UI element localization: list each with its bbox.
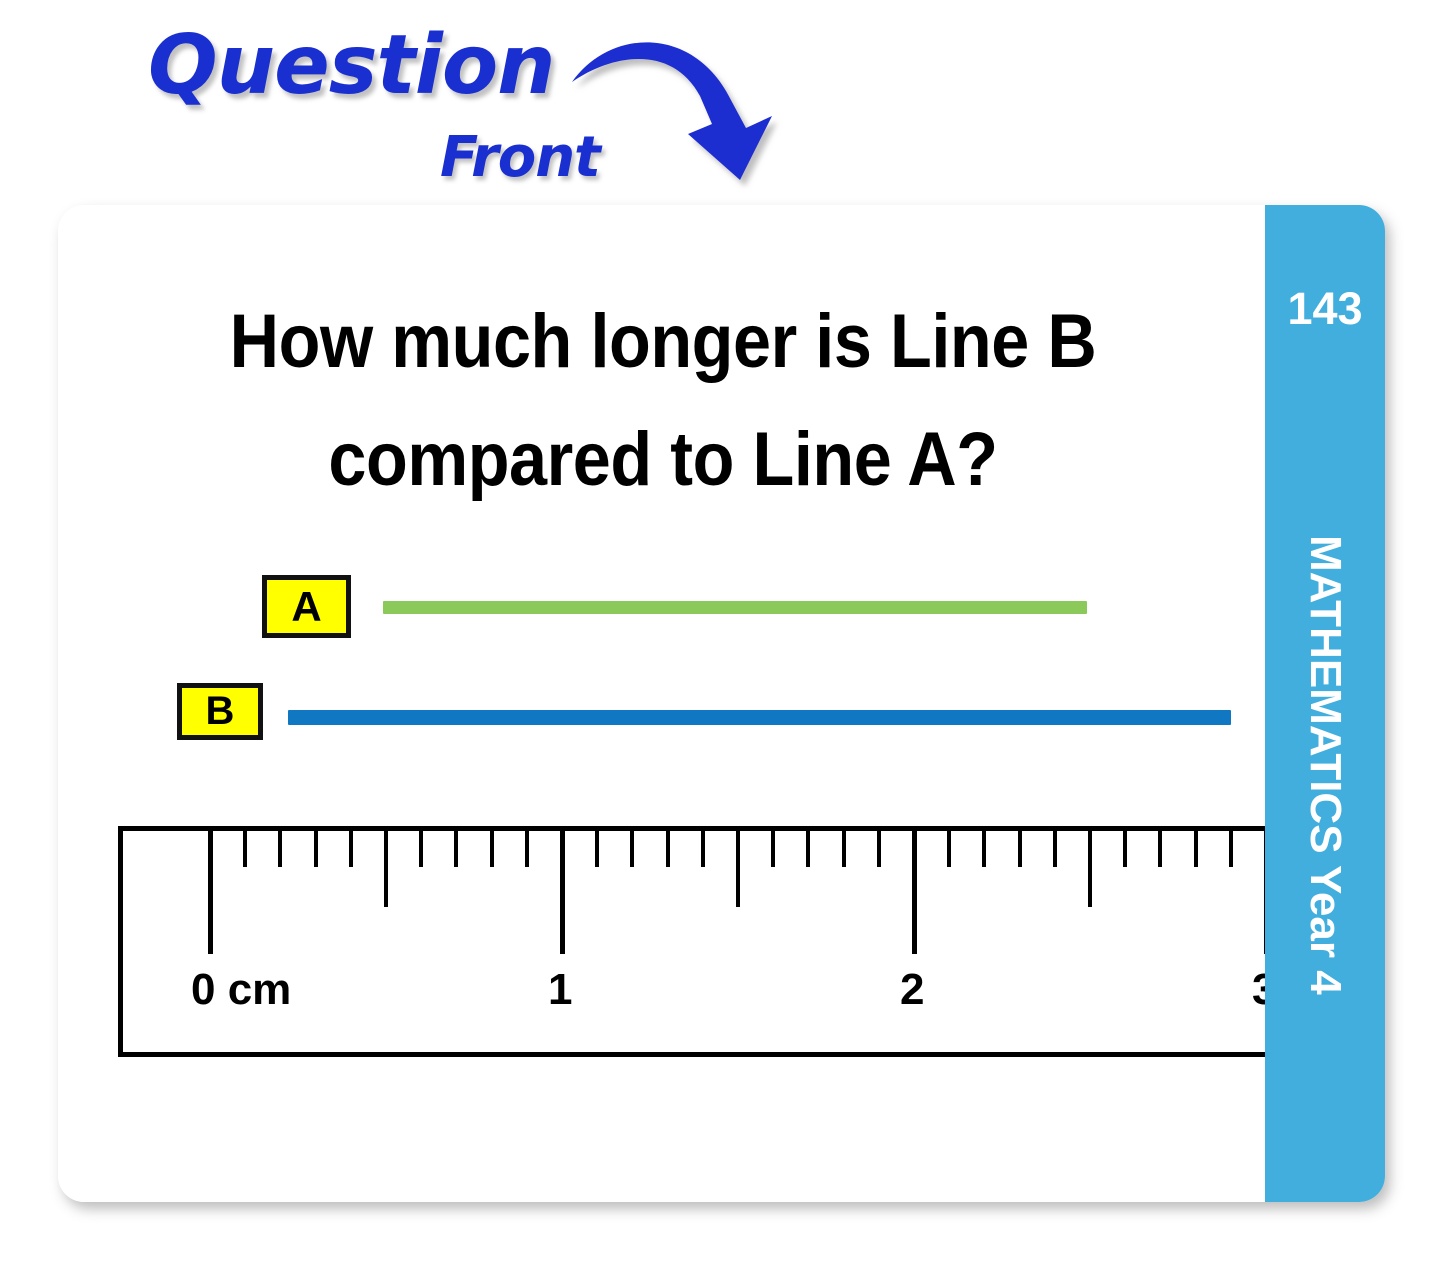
ruler-tick-minor <box>771 829 775 867</box>
ruler-tick-minor <box>666 829 670 867</box>
flashcard: How much longer is Line B compared to Li… <box>58 205 1385 1202</box>
question-word-label: Question <box>148 18 555 113</box>
ruler-tick-minor <box>947 829 951 867</box>
ruler-tick-minor <box>419 829 423 867</box>
ruler-tick-minor <box>525 829 529 867</box>
line-b-label: B <box>177 683 263 740</box>
ruler-tick-minor <box>982 829 986 867</box>
ruler-number-2: 2 <box>900 965 924 1015</box>
header-annotation: Question Front <box>0 0 800 205</box>
ruler-bottom-edge <box>118 1052 1320 1057</box>
line-b-label-text: B <box>206 689 235 734</box>
ruler-tick-major <box>208 829 213 954</box>
ruler-tick-minor <box>454 829 458 867</box>
ruler-tick-minor <box>1158 829 1162 867</box>
ruler-tick-major <box>560 829 565 954</box>
ruler-tick-minor <box>701 829 705 867</box>
line-a-label: A <box>262 575 351 638</box>
card-number-badge: 143 <box>1265 283 1385 335</box>
question-line-2: compared to Line A? <box>155 401 1172 519</box>
question-line-1: How much longer is Line B <box>155 283 1172 401</box>
ruler-tick-minor <box>595 829 599 867</box>
line-b-bar <box>288 710 1231 725</box>
ruler-tick-minor <box>1018 829 1022 867</box>
card-content-area: How much longer is Line B compared to Li… <box>58 205 1265 1202</box>
curved-down-arrow-icon <box>560 30 790 190</box>
ruler-tick-minor <box>1194 829 1198 867</box>
line-a-label-text: A <box>291 583 321 631</box>
ruler-tick-half <box>736 829 740 907</box>
page-title: How much longer is Line B compared to Li… <box>155 283 1172 519</box>
subject-label-container: MATHEMATICS Year 4 <box>1265 535 1385 1155</box>
ruler-tick-minor <box>842 829 846 867</box>
ruler-number-0: 0 cm <box>191 965 291 1015</box>
ruler-tick-minor <box>349 829 353 867</box>
ruler-tick-minor <box>877 829 881 867</box>
ruler-tick-minor <box>630 829 634 867</box>
ruler-tick-half <box>384 829 388 907</box>
ruler-tick-minor <box>314 829 318 867</box>
ruler: 0 cm123 <box>118 826 1320 1066</box>
ruler-tick-minor <box>278 829 282 867</box>
ruler-left-edge <box>118 826 123 1057</box>
ruler-tick-major <box>912 829 917 954</box>
subject-label: MATHEMATICS Year 4 <box>1300 535 1350 995</box>
ruler-tick-minor <box>806 829 810 867</box>
ruler-tick-half <box>1088 829 1092 907</box>
line-a-bar <box>383 601 1087 614</box>
ruler-tick-minor <box>1053 829 1057 867</box>
card-sidebar: 143 MATHEMATICS Year 4 <box>1265 205 1385 1202</box>
ruler-tick-minor <box>490 829 494 867</box>
ruler-tick-minor <box>243 829 247 867</box>
ruler-tick-minor <box>1123 829 1127 867</box>
ruler-number-1: 1 <box>548 965 572 1015</box>
ruler-tick-minor <box>1229 829 1233 867</box>
